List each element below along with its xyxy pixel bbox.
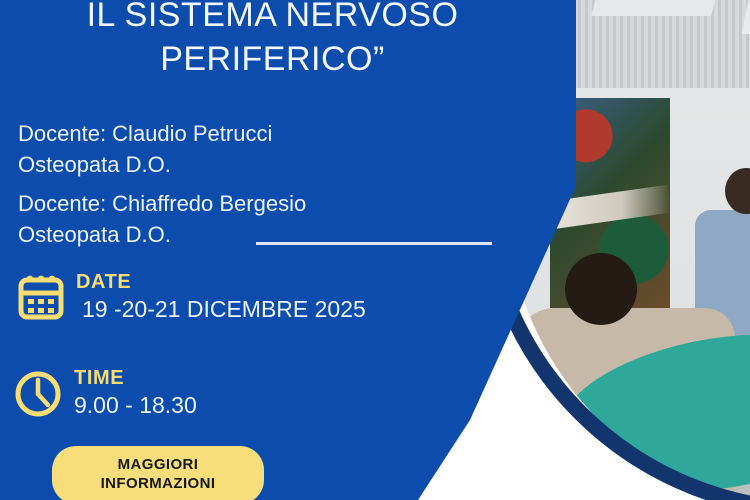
instructor-entry: Docente: Claudio Petrucci Osteopata D.O. [18, 118, 488, 180]
instructor-qualification: Osteopata D.O. [18, 219, 488, 250]
time-label: TIME [74, 367, 124, 389]
instructors-block: Docente: Claudio Petrucci Osteopata D.O.… [18, 118, 488, 258]
clock-icon [12, 368, 64, 420]
instructor-name: Docente: Chiaffredo Bergesio [18, 188, 488, 219]
time-value: 9.00 - 18.30 [74, 391, 197, 420]
page-title: IL SISTEMA NERVOSO PERIFERICO” [0, 0, 545, 81]
date-value: 19 -20-21 DICEMBRE 2025 [82, 295, 366, 324]
instructor-name: Docente: Claudio Petrucci [18, 118, 488, 149]
time-info-row: TIME 9.00 - 18.30 [12, 368, 197, 420]
instructor-qualification: Osteopata D.O. [18, 149, 488, 180]
divider-line [256, 242, 492, 245]
photo-person-head [565, 253, 637, 325]
photo-person-body [515, 308, 735, 500]
calendar-icon [16, 272, 66, 322]
more-information-button[interactable]: MAGGIORI INFORMAZIONI [52, 446, 264, 500]
date-info-row: DATE 19 -20-21 DICEMBRE 2025 [16, 272, 366, 324]
photo-table-leg [745, 360, 750, 430]
photo-ceiling-panel [591, 0, 718, 16]
instructor-entry: Docente: Chiaffredo Bergesio Osteopata D… [18, 188, 488, 250]
event-poster: IL SISTEMA NERVOSO PERIFERICO” Docente: … [0, 0, 750, 500]
date-label: DATE [76, 271, 131, 293]
